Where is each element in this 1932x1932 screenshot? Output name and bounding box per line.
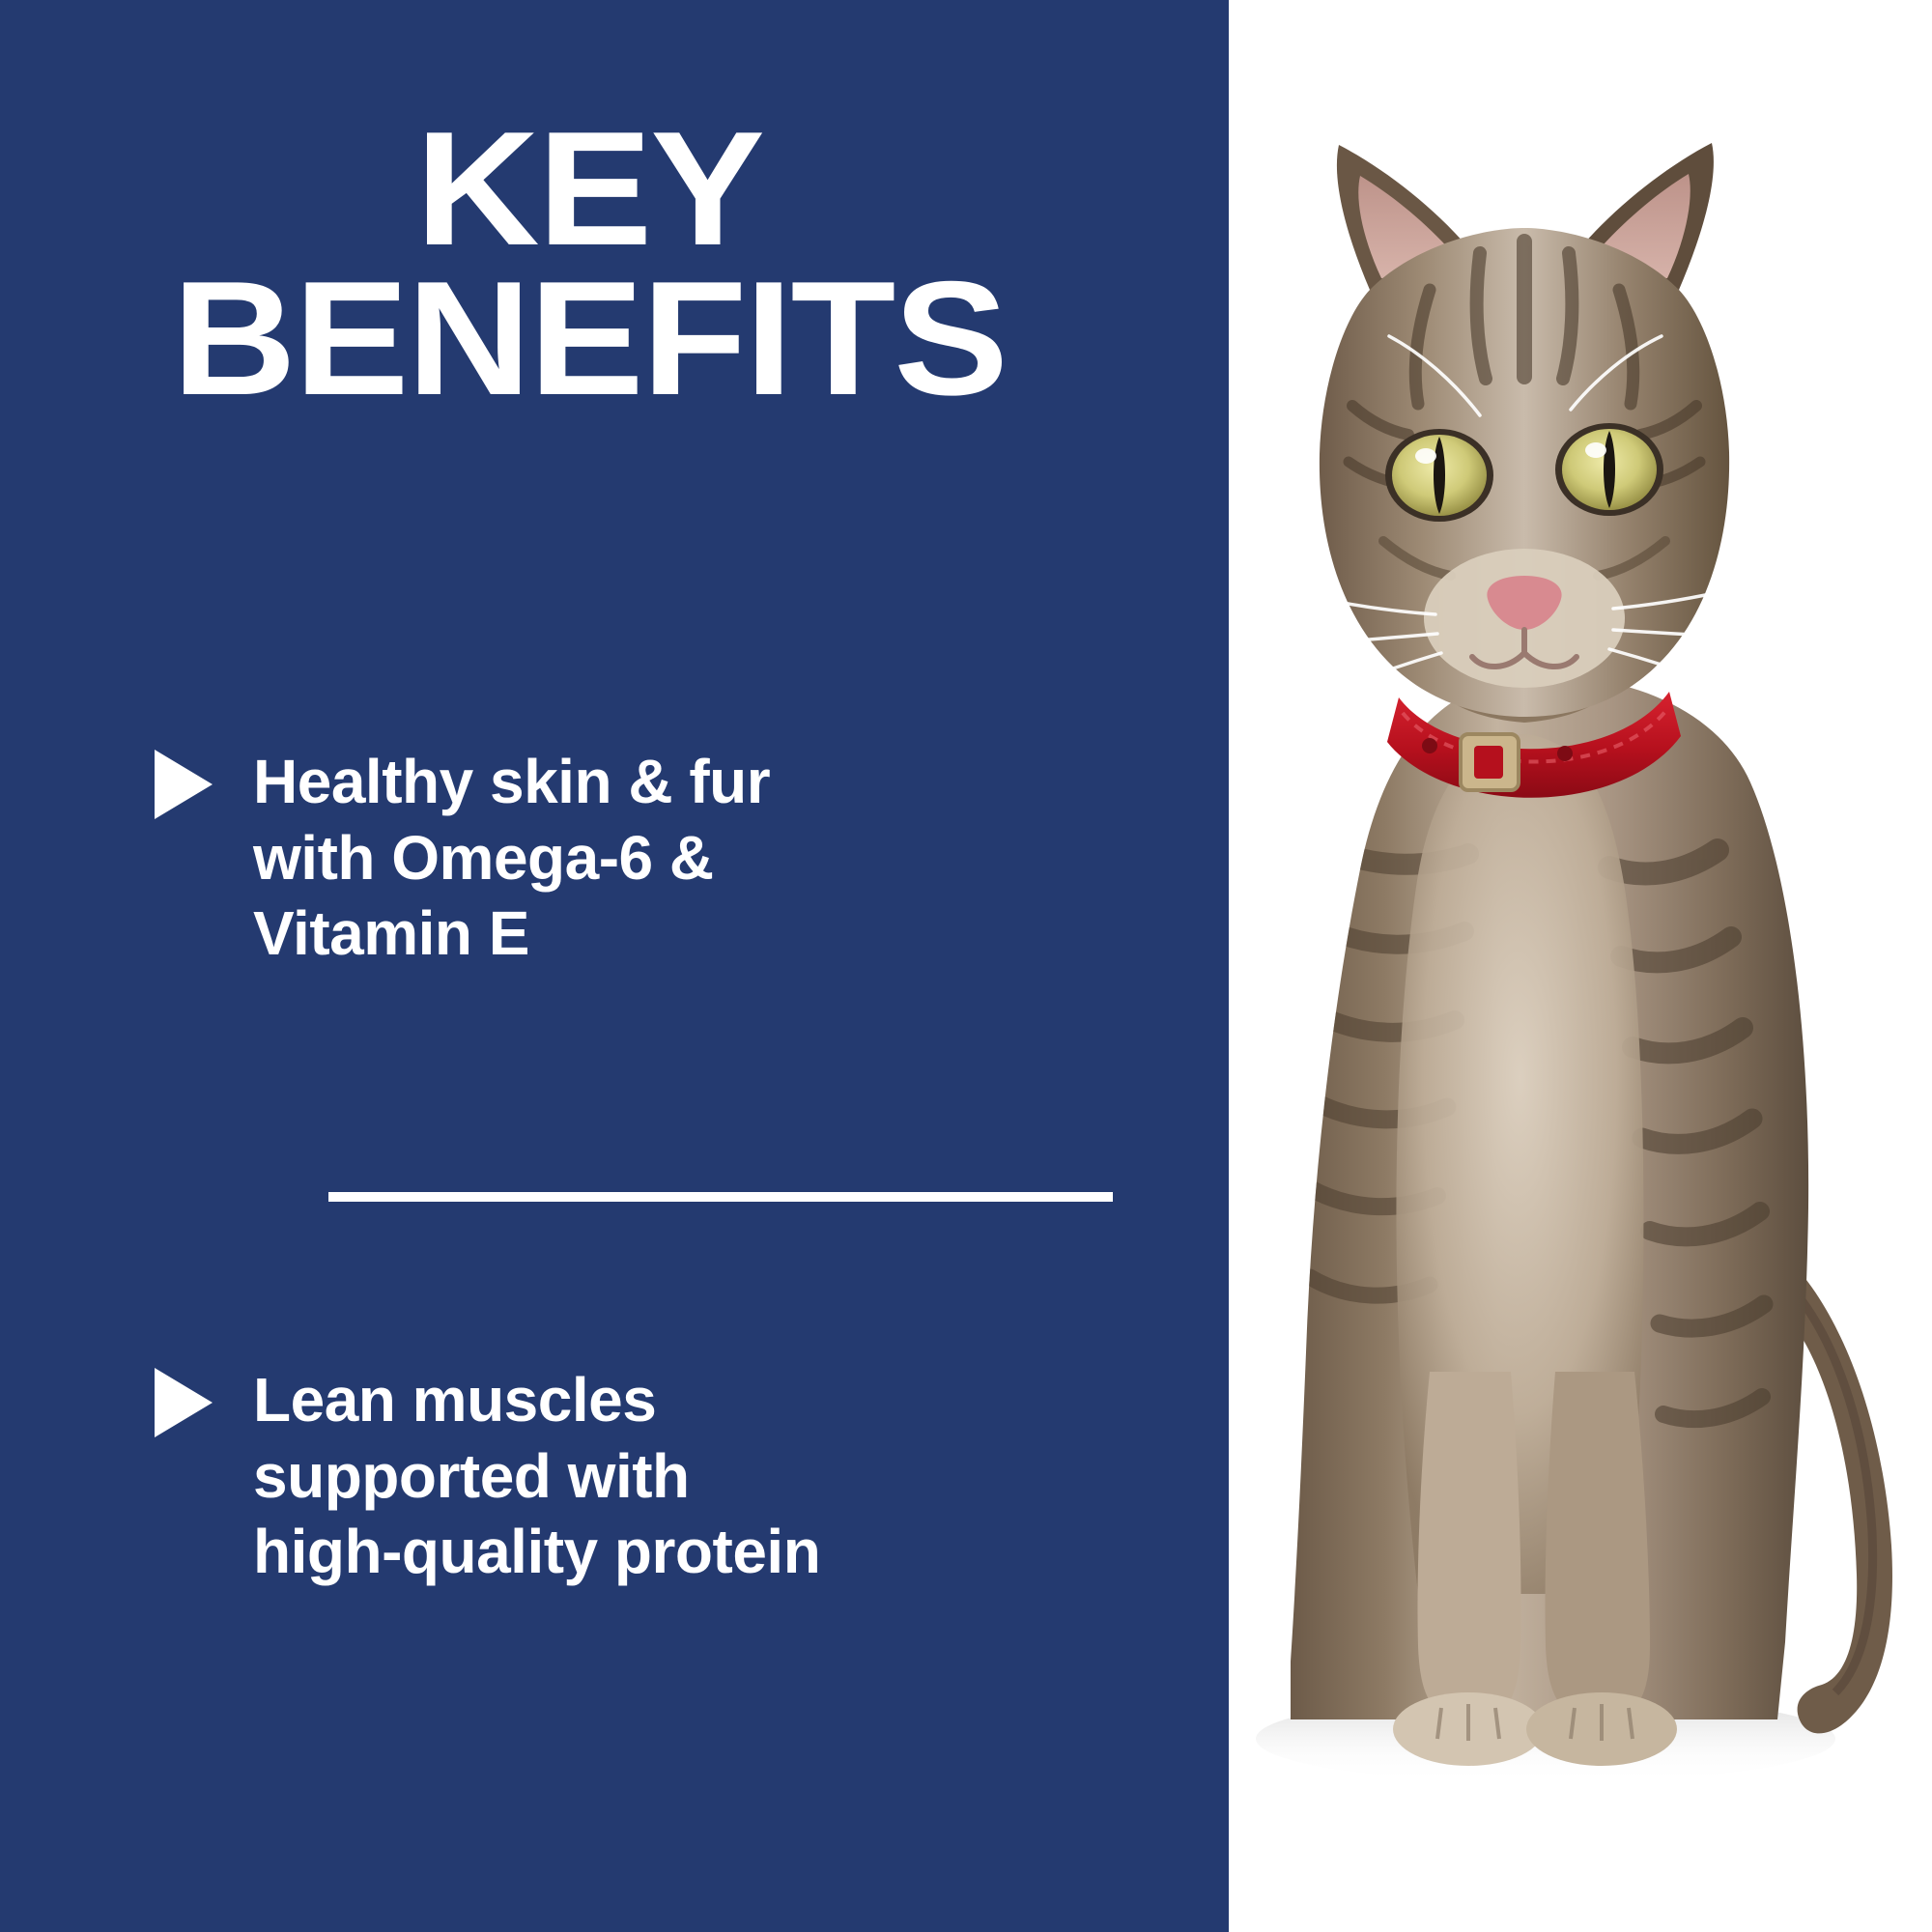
triangle-right-icon bbox=[155, 750, 213, 819]
cat-eye-right bbox=[1555, 423, 1663, 516]
cat-illustration bbox=[1140, 0, 1932, 1932]
cat-eye-left bbox=[1385, 429, 1493, 522]
benefit-item-2-label: Lean muscles supported with high-quality… bbox=[253, 1362, 820, 1590]
page-title-line-2: BENEFITS bbox=[26, 264, 1152, 413]
benefit-item-1: Healthy skin & fur with Omega-6 & Vitami… bbox=[155, 744, 770, 972]
page-title: KEY BENEFITS bbox=[26, 114, 1152, 412]
cat-front-leg-right bbox=[1545, 1372, 1650, 1721]
benefit-2-line-2: supported with bbox=[253, 1438, 820, 1515]
benefit-item-2: Lean muscles supported with high-quality… bbox=[155, 1362, 820, 1590]
cat-front-leg-left bbox=[1418, 1372, 1521, 1721]
benefit-item-1-label: Healthy skin & fur with Omega-6 & Vitami… bbox=[253, 744, 770, 972]
benefit-2-line-1: Lean muscles bbox=[253, 1362, 820, 1438]
section-divider bbox=[328, 1192, 1113, 1202]
benefit-1-line-1: Healthy skin & fur bbox=[253, 744, 770, 820]
key-benefits-panel: KEY BENEFITS Healthy skin & fur with Ome… bbox=[0, 0, 1932, 1932]
page-title-line-1: KEY bbox=[26, 114, 1152, 264]
triangle-right-icon bbox=[155, 1368, 213, 1437]
benefit-1-line-3: Vitamin E bbox=[253, 895, 770, 972]
benefit-1-line-2: with Omega-6 & bbox=[253, 820, 770, 896]
benefit-2-line-3: high-quality protein bbox=[253, 1514, 820, 1590]
cat-photo bbox=[1140, 0, 1932, 1932]
